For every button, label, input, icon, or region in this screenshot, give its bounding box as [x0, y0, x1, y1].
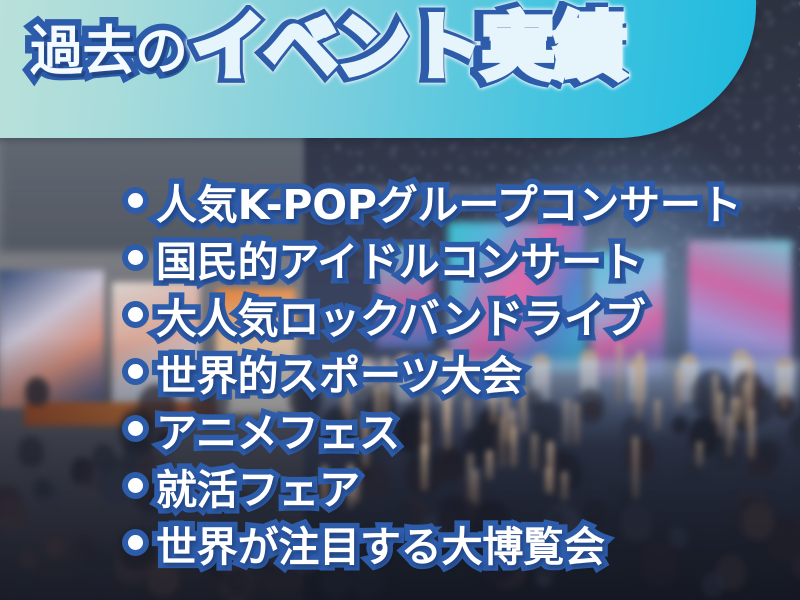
bullet-dot-icon: [128, 250, 143, 265]
list-item-label: 世界が注目する大博覧会: [156, 513, 605, 573]
list-item: 世界的スポーツ大会: [122, 343, 782, 400]
crowd-head: [18, 436, 44, 467]
crowd-head: [14, 572, 30, 590]
event-list: 人気K-POPグループコンサート国民的アイドルコンサート大人気ロックバンドライブ…: [122, 172, 782, 571]
crowd-head: [25, 377, 49, 405]
list-item-label: 大人気ロックバンドライブ: [156, 285, 646, 345]
bullet-dot-icon: [128, 421, 143, 436]
crowd-head: [48, 534, 67, 557]
title-suffix: 実績: [478, 11, 621, 83]
crowd-head: [33, 478, 51, 499]
slide-canvas: 過去の イベント 実績 過去の イベント 実績 人気K-POPグループコンサート…: [0, 0, 800, 600]
list-item-label: 世界的スポーツ大会: [156, 342, 522, 402]
crowd-head: [0, 497, 27, 532]
list-item: 国民的アイドルコンサート: [122, 229, 782, 286]
list-item: 人気K-POPグループコンサート: [122, 172, 782, 229]
list-item: 就活フェア: [122, 457, 782, 514]
title-highlight: イベント: [191, 11, 476, 83]
list-item: 世界が注目する大博覧会: [122, 514, 782, 571]
crowd-head: [76, 534, 94, 556]
list-item: 大人気ロックバンドライブ: [122, 286, 782, 343]
bullet-dot-icon: [128, 364, 143, 379]
crowd-head: [21, 549, 37, 568]
bullet-dot-icon: [128, 535, 143, 550]
list-item: アニメフェス: [122, 400, 782, 457]
crowd-head: [81, 471, 97, 490]
list-item-label: アニメフェス: [156, 399, 400, 459]
title-prefix: 過去の: [30, 25, 187, 83]
list-item-label: 就活フェア: [156, 456, 360, 516]
list-item-label: 人気K-POPグループコンサート: [156, 171, 741, 231]
bullet-dot-icon: [128, 478, 143, 493]
bullet-dot-icon: [128, 307, 143, 322]
crowd-head: [225, 568, 250, 598]
page-title: 過去の イベント 実績: [30, 11, 620, 83]
crowd-head: [702, 571, 725, 598]
bullet-dot-icon: [128, 193, 143, 208]
list-item-label: 国民的アイドルコンサート: [156, 228, 643, 288]
